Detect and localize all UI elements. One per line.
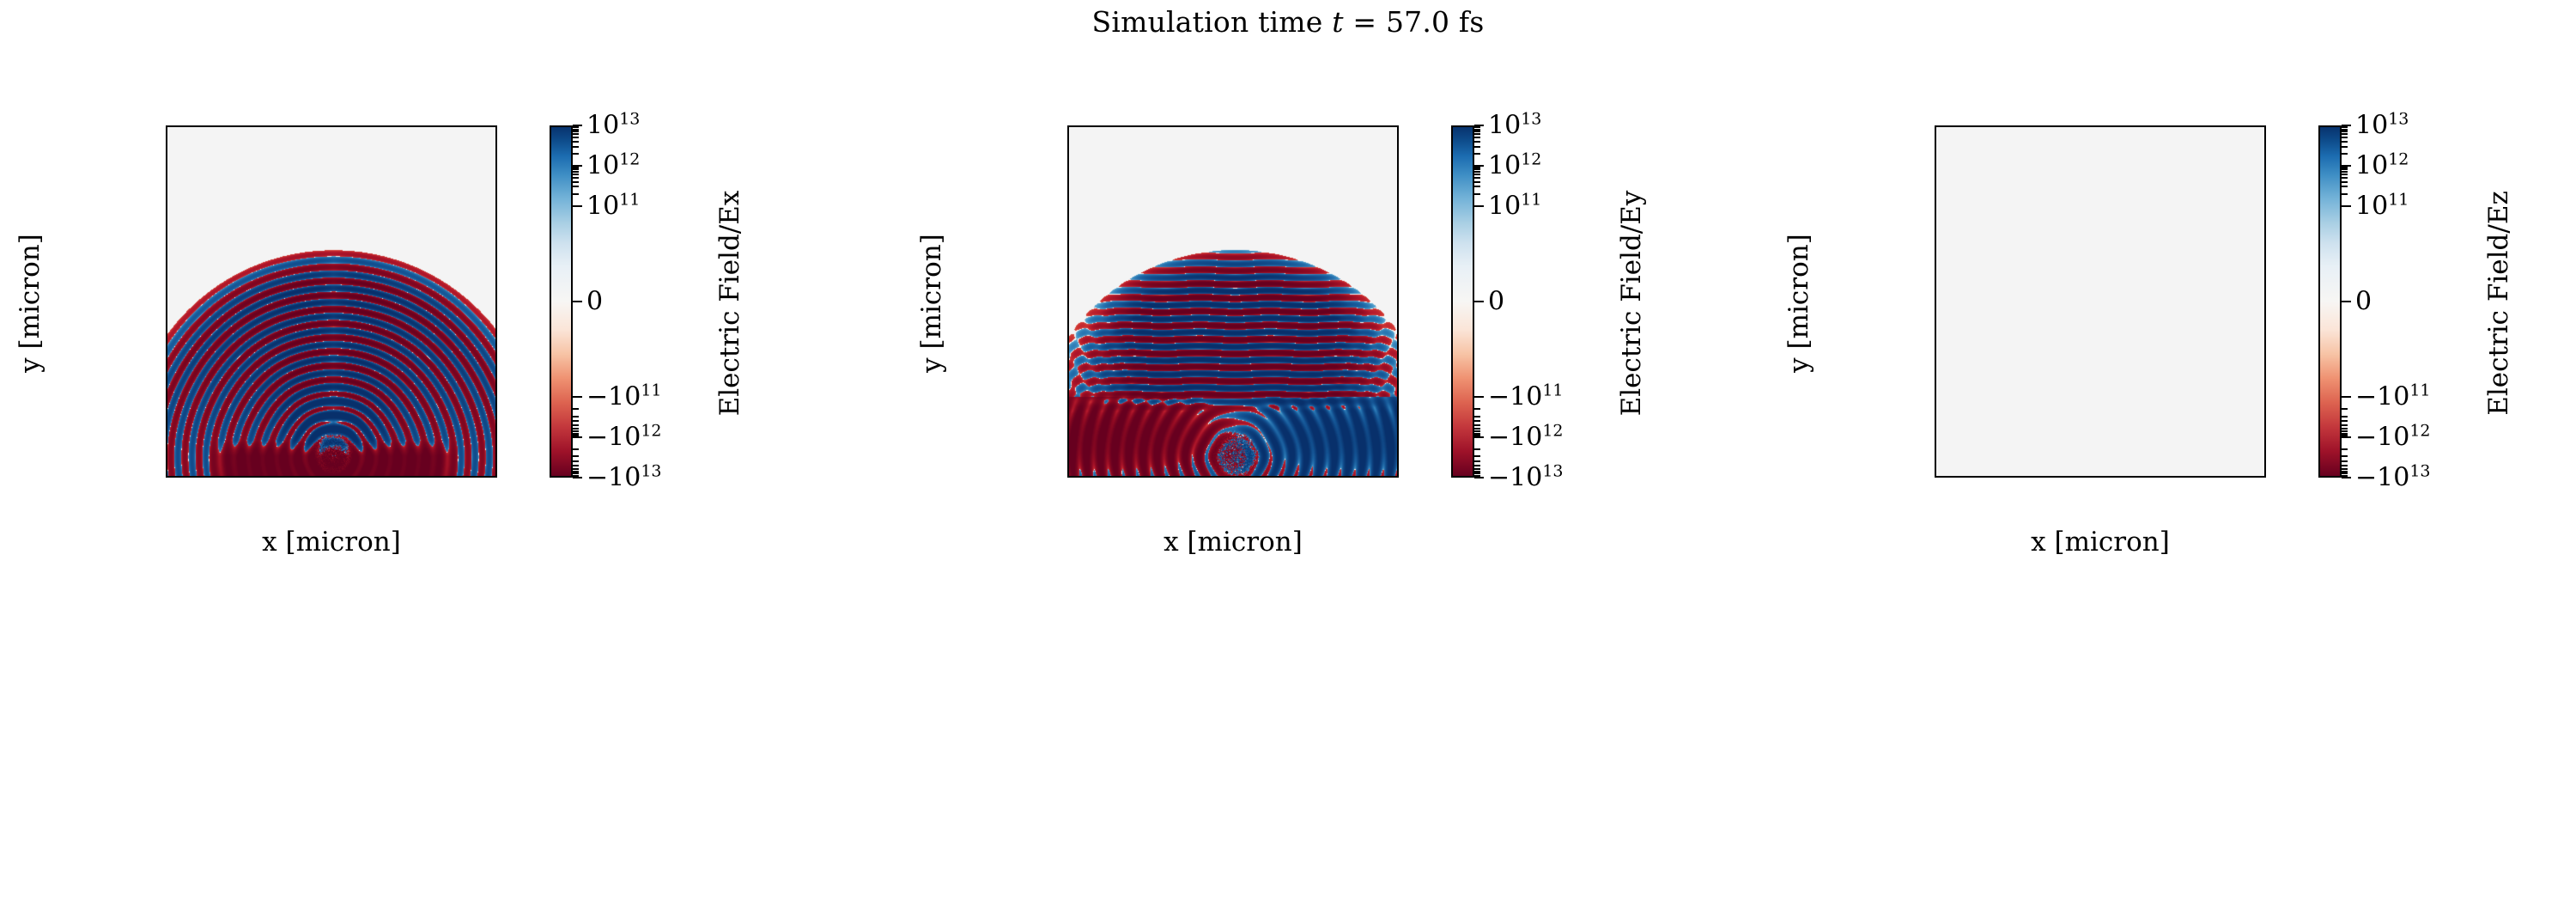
- colorbar-tick-label: 1013: [1488, 111, 1541, 141]
- x-tick-major: [2136, 476, 2138, 478]
- colorbar-tick-minor: [2342, 129, 2348, 131]
- colorbar-tick-minor: [573, 428, 579, 430]
- colorbar-label-exponent: 13: [641, 462, 661, 481]
- colorbar-label-base: 10: [586, 111, 619, 141]
- colorbar-label-base: 10: [586, 191, 619, 221]
- x-tick-minor: [279, 476, 281, 478]
- x-tick-major: [368, 476, 369, 478]
- x-tick-minor: [209, 476, 210, 478]
- colorbar-label-base: −10: [2355, 423, 2409, 453]
- y-tick-minor: [1935, 475, 1936, 477]
- y-tick-major: [1067, 153, 1069, 155]
- y-tick-minor: [166, 399, 167, 400]
- colorbar-tick-minor: [573, 193, 579, 195]
- colorbar-label-exponent: 11: [2409, 381, 2430, 400]
- x-tick-major: [1234, 476, 1236, 478]
- colorbar-tick-minor: [573, 416, 579, 417]
- x-tick-major: [2031, 476, 2032, 478]
- x-tick-major: [2242, 476, 2244, 478]
- colorbar-tick-label: −1012: [1488, 423, 1564, 453]
- colorbar-tick-minor: [2342, 126, 2348, 128]
- colorbar-tick-minor: [2342, 133, 2348, 135]
- colorbar-tick-minor: [2342, 408, 2348, 410]
- y-tick-minor: [1935, 399, 1936, 400]
- colorbar-tick-label: −1011: [2355, 382, 2431, 412]
- x-tick-major: [473, 476, 475, 478]
- x-tick-major: [1960, 476, 1962, 478]
- colorbar-tick-minor: [573, 131, 579, 132]
- colorbar-tick-minor: [2342, 146, 2348, 148]
- x-tick-major: [1163, 476, 1165, 478]
- colorbar-title: Electric Field/Ez: [2483, 166, 2514, 441]
- panel-ex: 0246810121416−8−6−4−202468x [micron]y [m…: [0, 0, 859, 902]
- x-tick-minor: [2119, 476, 2121, 478]
- y-tick-major: [1067, 229, 1069, 230]
- colorbar-tick-minor: [1474, 448, 1480, 450]
- colorbar-label-base: −10: [1488, 423, 1542, 453]
- colorbar-label-exponent: 12: [641, 422, 661, 441]
- colorbar-label-base: −10: [1488, 382, 1542, 412]
- y-tick-minor: [1935, 285, 1936, 287]
- y-tick-major: [1935, 417, 1936, 419]
- colorbar-tick-label: −1012: [2355, 423, 2431, 453]
- colorbar-tick-minor: [1474, 424, 1480, 426]
- y-tick-major: [166, 266, 167, 268]
- colorbar-tick-minor: [1474, 137, 1480, 138]
- colorbar-tick-minor: [2342, 186, 2348, 187]
- colorbar-tick-minor: [2342, 455, 2348, 457]
- y-tick-minor: [1935, 361, 1936, 363]
- colorbar-tick-minor: [573, 408, 579, 410]
- colorbar-tick-minor: [2342, 131, 2348, 132]
- x-tick-minor: [491, 476, 493, 478]
- colorbar-tick-minor: [573, 137, 579, 138]
- y-tick-major: [1935, 266, 1936, 268]
- colorbar-tick-minor: [573, 168, 579, 170]
- colorbar-label-exponent: 12: [1521, 149, 1541, 168]
- colorbar-tick-minor: [1474, 475, 1480, 477]
- y-tick-major: [1067, 266, 1069, 268]
- colorbar-tick-label: 1011: [1488, 191, 1541, 221]
- x-tick-minor: [2154, 476, 2156, 478]
- y-tick-major: [166, 229, 167, 230]
- colorbar-label-exponent: 11: [1521, 190, 1541, 209]
- colorbar-tick-minor: [1474, 167, 1480, 168]
- x-tick-minor: [1145, 476, 1147, 478]
- colorbar-tick-minor: [2342, 193, 2348, 195]
- colorbar-tick-label: −1011: [1488, 382, 1564, 412]
- colorbar-label-exponent: 11: [619, 190, 640, 209]
- y-tick-major: [1067, 191, 1069, 192]
- colorbar-tick-label: −1013: [1488, 463, 1564, 493]
- title-equals: =: [1344, 5, 1386, 39]
- x-tick-major: [1996, 476, 1997, 478]
- plot-area-ex: 0246810121416−8−6−4−202468: [166, 125, 497, 478]
- x-axis-title: x [micron]: [1067, 527, 1399, 558]
- y-tick-minor: [166, 285, 167, 287]
- colorbar-gradient: [550, 125, 573, 478]
- y-tick-major: [166, 304, 167, 306]
- colorbar-label-base: 10: [1488, 111, 1521, 141]
- y-tick-major: [166, 380, 167, 381]
- colorbar-tick-label: −1013: [586, 463, 662, 493]
- colorbar-tick-major: [1474, 205, 1484, 207]
- colorbar-tick-minor: [1474, 177, 1480, 179]
- colorbar-label-base: 10: [2355, 111, 2388, 141]
- colorbar-tick-minor: [1474, 133, 1480, 135]
- x-tick-minor: [350, 476, 352, 478]
- colorbar-title: Electric Field/Ex: [714, 166, 745, 441]
- colorbar-label-exponent: 12: [2409, 422, 2430, 441]
- colorbar-tick-minor: [1474, 455, 1480, 457]
- colorbar-label-exponent: 12: [1542, 422, 1563, 441]
- field-layer: [1069, 127, 1397, 476]
- x-tick-major: [2101, 476, 2103, 478]
- x-tick-minor: [1287, 476, 1289, 478]
- y-tick-minor: [1935, 323, 1936, 325]
- colorbar-tick-major: [2342, 396, 2351, 398]
- colorbar-tick-minor: [2342, 460, 2348, 462]
- colorbar-tick-minor: [1474, 129, 1480, 131]
- x-tick-minor: [314, 476, 316, 478]
- y-tick-minor: [1067, 247, 1069, 249]
- colorbar-tick-minor: [2342, 168, 2348, 170]
- colorbar-tick-minor: [1474, 435, 1480, 436]
- colorbar-tick-minor: [2342, 471, 2348, 472]
- title-variable: t: [1332, 5, 1343, 39]
- colorbar-tick-label: 1011: [586, 191, 640, 221]
- colorbar-tick-minor: [2342, 428, 2348, 430]
- x-tick-minor: [2225, 476, 2227, 478]
- x-tick-major: [1093, 476, 1095, 478]
- x-tick-major: [2172, 476, 2173, 478]
- colorbar-tick-minor: [573, 146, 579, 148]
- colorbar-tick-major: [2342, 205, 2351, 207]
- colorbar-label-exponent: 11: [641, 381, 661, 400]
- x-tick-major: [1199, 476, 1200, 478]
- colorbar-label-exponent: 13: [2409, 462, 2430, 481]
- colorbar-tick-minor: [2342, 430, 2348, 432]
- plot-area-ey: 0246810121416−8−6−4−202468: [1067, 125, 1399, 478]
- title-prefix: Simulation time: [1092, 5, 1333, 39]
- colorbar-tick-minor: [573, 435, 579, 436]
- field-heatmap: [1936, 127, 2264, 476]
- colorbar-label-base: 10: [586, 150, 619, 180]
- colorbar-tick-minor: [2342, 171, 2348, 173]
- figure-title: Simulation time t = 57.0 fs: [0, 5, 2576, 39]
- x-tick-major: [191, 476, 193, 478]
- colorbar-tick-major: [573, 205, 582, 207]
- x-tick-minor: [1181, 476, 1182, 478]
- y-tick-major: [1067, 342, 1069, 344]
- y-tick-minor: [1067, 134, 1069, 136]
- colorbar-tick-major: [1474, 396, 1484, 398]
- y-tick-major: [1067, 417, 1069, 419]
- y-tick-minor: [166, 475, 167, 477]
- colorbar-tick-minor: [573, 167, 579, 168]
- x-tick-major: [1128, 476, 1130, 478]
- y-tick-major: [166, 417, 167, 419]
- x-tick-minor: [386, 476, 387, 478]
- colorbar-tick-label: −1011: [586, 382, 662, 412]
- colorbar-tick-minor: [573, 177, 579, 179]
- colorbar-label-base: 0: [586, 287, 603, 317]
- colorbar-tick-label: 1012: [586, 150, 640, 180]
- y-tick-major: [1935, 229, 1936, 230]
- y-tick-minor: [166, 210, 167, 211]
- colorbar-tick-label: 1011: [2355, 191, 2409, 221]
- y-axis-title: y [micron]: [916, 217, 947, 389]
- colorbar-tick-minor: [2342, 167, 2348, 168]
- colorbar-label-exponent: 13: [1521, 110, 1541, 129]
- colorbar-tick-minor: [1474, 168, 1480, 170]
- colorbar-label-exponent: 11: [2388, 190, 2409, 209]
- panel-ez: 0246810121416−8−6−4−202468x [micron]y [m…: [1769, 0, 2576, 902]
- colorbar-tick-minor: [1474, 420, 1480, 422]
- colorbar-tick-label: 0: [1488, 287, 1504, 317]
- x-tick-major: [262, 476, 264, 478]
- colorbar-tick-minor: [2342, 435, 2348, 436]
- x-tick-minor: [2013, 476, 2014, 478]
- colorbar-label-exponent: 13: [619, 110, 640, 129]
- colorbar-tick-minor: [1474, 146, 1480, 148]
- colorbar-tick-minor: [2342, 448, 2348, 450]
- colorbar-tick-minor: [573, 153, 579, 155]
- colorbar-label-exponent: 12: [619, 149, 640, 168]
- colorbar-tick-label: 1012: [1488, 150, 1541, 180]
- x-tick-major: [1269, 476, 1271, 478]
- colorbar-tick-minor: [573, 468, 579, 470]
- x-axis-title: x [micron]: [1935, 527, 2266, 558]
- colorbar-tick-minor: [1474, 428, 1480, 430]
- y-tick-major: [1935, 456, 1936, 458]
- y-tick-minor: [1935, 172, 1936, 174]
- colorbar-label-base: −10: [2355, 382, 2409, 412]
- colorbar-tick-label: 1013: [586, 111, 640, 141]
- colorbar-gradient: [2318, 125, 2342, 478]
- x-tick-major: [403, 476, 404, 478]
- y-tick-minor: [166, 172, 167, 174]
- y-axis-title: y [micron]: [15, 217, 46, 389]
- title-value: 57.0 fs: [1386, 5, 1485, 39]
- x-tick-major: [2207, 476, 2208, 478]
- x-axis-title: x [micron]: [166, 527, 497, 558]
- y-tick-minor: [1935, 134, 1936, 136]
- field-heatmap: [1069, 127, 1397, 476]
- colorbar-tick-minor: [1474, 181, 1480, 183]
- x-tick-minor: [1358, 476, 1359, 478]
- plot-area-ez: 0246810121416−8−6−4−202468: [1935, 125, 2266, 478]
- colorbar-label-exponent: 11: [1542, 381, 1563, 400]
- colorbar-tick-label: 0: [586, 287, 603, 317]
- x-tick-minor: [1322, 476, 1324, 478]
- colorbar-tick-minor: [573, 141, 579, 143]
- y-tick-major: [1067, 304, 1069, 306]
- y-tick-minor: [166, 323, 167, 325]
- x-tick-minor: [421, 476, 422, 478]
- y-tick-minor: [1067, 285, 1069, 287]
- x-tick-major: [227, 476, 228, 478]
- colorbar-tick-minor: [573, 181, 579, 183]
- x-tick-minor: [1110, 476, 1112, 478]
- x-tick-minor: [1216, 476, 1218, 478]
- colorbar-tick-minor: [1474, 465, 1480, 466]
- colorbar-tick-minor: [2342, 416, 2348, 417]
- colorbar-tick-minor: [1474, 131, 1480, 132]
- y-tick-minor: [1935, 247, 1936, 249]
- colorbar-tick-minor: [573, 186, 579, 187]
- colorbar-label-base: −10: [586, 463, 641, 493]
- colorbar-tick-label: 0: [2355, 287, 2372, 317]
- colorbar-tick-major: [2342, 301, 2351, 302]
- colorbar-tick-minor: [573, 430, 579, 432]
- y-tick-major: [1935, 191, 1936, 192]
- y-tick-minor: [166, 437, 167, 439]
- colorbar-tick-major: [1474, 436, 1484, 438]
- colorbar-tick-minor: [1474, 416, 1480, 417]
- colorbar-tick-minor: [573, 475, 579, 477]
- y-tick-minor: [1935, 437, 1936, 439]
- colorbar-tick-major: [573, 436, 582, 438]
- x-tick-minor: [2048, 476, 2050, 478]
- y-tick-major: [166, 456, 167, 458]
- colorbar-label-base: 10: [1488, 150, 1521, 180]
- y-axis-title: y [micron]: [1783, 217, 1814, 389]
- colorbar-tick-major: [1474, 477, 1484, 478]
- colorbar-tick-minor: [2342, 424, 2348, 426]
- colorbar-label-base: 0: [2355, 287, 2372, 317]
- colorbar-tick-label: −1012: [586, 423, 662, 453]
- y-tick-minor: [1067, 437, 1069, 439]
- colorbar-tick-minor: [1474, 468, 1480, 470]
- colorbar-tick-minor: [1474, 174, 1480, 175]
- colorbar-tick-minor: [1474, 430, 1480, 432]
- y-tick-major: [1067, 380, 1069, 381]
- y-tick-minor: [166, 247, 167, 249]
- y-tick-major: [166, 191, 167, 192]
- colorbar-tick-minor: [1474, 186, 1480, 187]
- colorbar-tick-minor: [2342, 137, 2348, 138]
- colorbar-tick-major: [573, 477, 582, 478]
- colorbar-tick-minor: [2342, 475, 2348, 477]
- colorbar-tick-major: [573, 396, 582, 398]
- x-tick-minor: [2190, 476, 2191, 478]
- colorbar-tick-minor: [573, 126, 579, 128]
- colorbar-tick-minor: [1474, 408, 1480, 410]
- colorbar-tick-label: 1012: [2355, 150, 2409, 180]
- x-tick-minor: [1942, 476, 1944, 478]
- y-tick-major: [1935, 304, 1936, 306]
- colorbar-tick-label: 1013: [2355, 111, 2409, 141]
- x-tick-minor: [456, 476, 458, 478]
- colorbar-label-exponent: 12: [2388, 149, 2409, 168]
- y-tick-minor: [1067, 323, 1069, 325]
- x-tick-major: [1304, 476, 1306, 478]
- colorbar-title: Electric Field/Ey: [1616, 166, 1647, 441]
- colorbar-tick-major: [1474, 301, 1484, 302]
- colorbar-tick-major: [2342, 477, 2351, 478]
- colorbar-label-base: 10: [2355, 150, 2388, 180]
- colorbar-tick-minor: [573, 174, 579, 175]
- y-tick-major: [1935, 380, 1936, 381]
- colorbar-tick-minor: [573, 133, 579, 135]
- colorbar-tick-minor: [573, 129, 579, 131]
- colorbar-tick-minor: [2342, 177, 2348, 179]
- y-tick-minor: [166, 361, 167, 363]
- colorbar-tick-minor: [573, 420, 579, 422]
- field-heatmap: [167, 127, 495, 476]
- colorbar-tick-minor: [2342, 420, 2348, 422]
- colorbar-label-base: −10: [586, 382, 641, 412]
- y-tick-minor: [1067, 172, 1069, 174]
- y-tick-minor: [1067, 361, 1069, 363]
- colorbar-tick-minor: [2342, 174, 2348, 175]
- y-tick-minor: [1067, 399, 1069, 400]
- y-tick-minor: [166, 134, 167, 136]
- colorbar-tick-minor: [1474, 193, 1480, 195]
- colorbar-tick-minor: [1474, 471, 1480, 472]
- y-tick-major: [1067, 456, 1069, 458]
- field-layer: [167, 127, 495, 476]
- panel-ey: 0246810121416−8−6−4−202468x [micron]y [m…: [902, 0, 1760, 902]
- x-tick-major: [1340, 476, 1341, 478]
- colorbar-label-base: −10: [1488, 463, 1542, 493]
- colorbar-gradient: [1451, 125, 1474, 478]
- x-tick-minor: [1252, 476, 1254, 478]
- colorbar-tick-minor: [573, 455, 579, 457]
- y-tick-major: [166, 342, 167, 344]
- x-tick-minor: [1393, 476, 1394, 478]
- y-tick-minor: [1067, 210, 1069, 211]
- x-tick-minor: [1978, 476, 1979, 478]
- x-tick-minor: [2083, 476, 2085, 478]
- x-tick-major: [1375, 476, 1376, 478]
- colorbar-tick-minor: [1474, 171, 1480, 173]
- field-layer: [1936, 127, 2264, 476]
- colorbar-label-exponent: 13: [1542, 462, 1563, 481]
- colorbar-tick-minor: [1474, 460, 1480, 462]
- colorbar-tick-major: [2342, 436, 2351, 438]
- colorbar-label-base: −10: [2355, 463, 2409, 493]
- colorbar-tick-minor: [1474, 126, 1480, 128]
- colorbar-tick-minor: [2342, 141, 2348, 143]
- colorbar-label-base: 0: [1488, 287, 1504, 317]
- x-tick-minor: [1075, 476, 1077, 478]
- colorbar-label-base: 10: [2355, 191, 2388, 221]
- colorbar-tick-minor: [1474, 141, 1480, 143]
- colorbar-tick-minor: [573, 171, 579, 173]
- colorbar-tick-minor: [2342, 153, 2348, 155]
- x-tick-minor: [244, 476, 246, 478]
- colorbar-label-base: 10: [1488, 191, 1521, 221]
- x-tick-minor: [2260, 476, 2262, 478]
- colorbar-tick-major: [573, 301, 582, 302]
- colorbar-label-exponent: 13: [2388, 110, 2409, 129]
- x-tick-major: [332, 476, 334, 478]
- colorbar-tick-label: −1013: [2355, 463, 2431, 493]
- x-tick-major: [2066, 476, 2068, 478]
- y-tick-minor: [1067, 475, 1069, 477]
- x-tick-minor: [173, 476, 175, 478]
- colorbar-tick-minor: [573, 424, 579, 426]
- colorbar-tick-minor: [573, 448, 579, 450]
- colorbar-label-base: −10: [586, 423, 641, 453]
- x-tick-major: [297, 476, 299, 478]
- colorbar-tick-minor: [573, 471, 579, 472]
- colorbar-tick-minor: [2342, 465, 2348, 466]
- y-tick-minor: [1935, 210, 1936, 211]
- colorbar-tick-minor: [573, 460, 579, 462]
